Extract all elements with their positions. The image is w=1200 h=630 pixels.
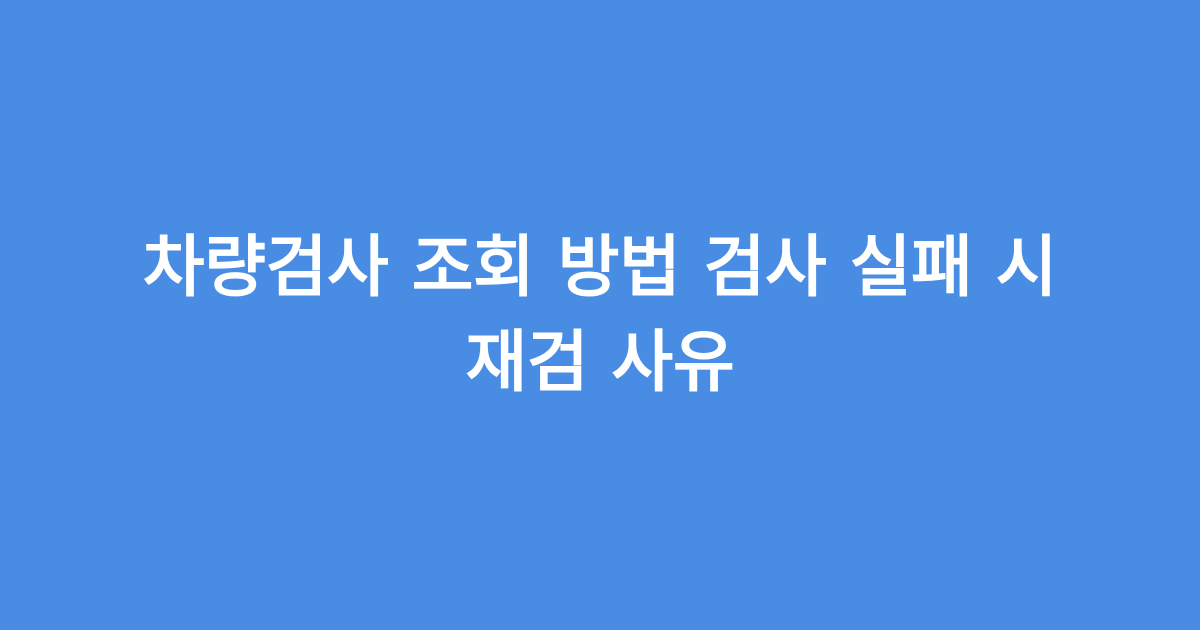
page-title: 차량검사 조회 방법 검사 실패 시 재검 사유 [70,220,1130,410]
og-share-card: 차량검사 조회 방법 검사 실패 시 재검 사유 [0,0,1200,630]
title-block: 차량검사 조회 방법 검사 실패 시 재검 사유 [70,220,1130,410]
